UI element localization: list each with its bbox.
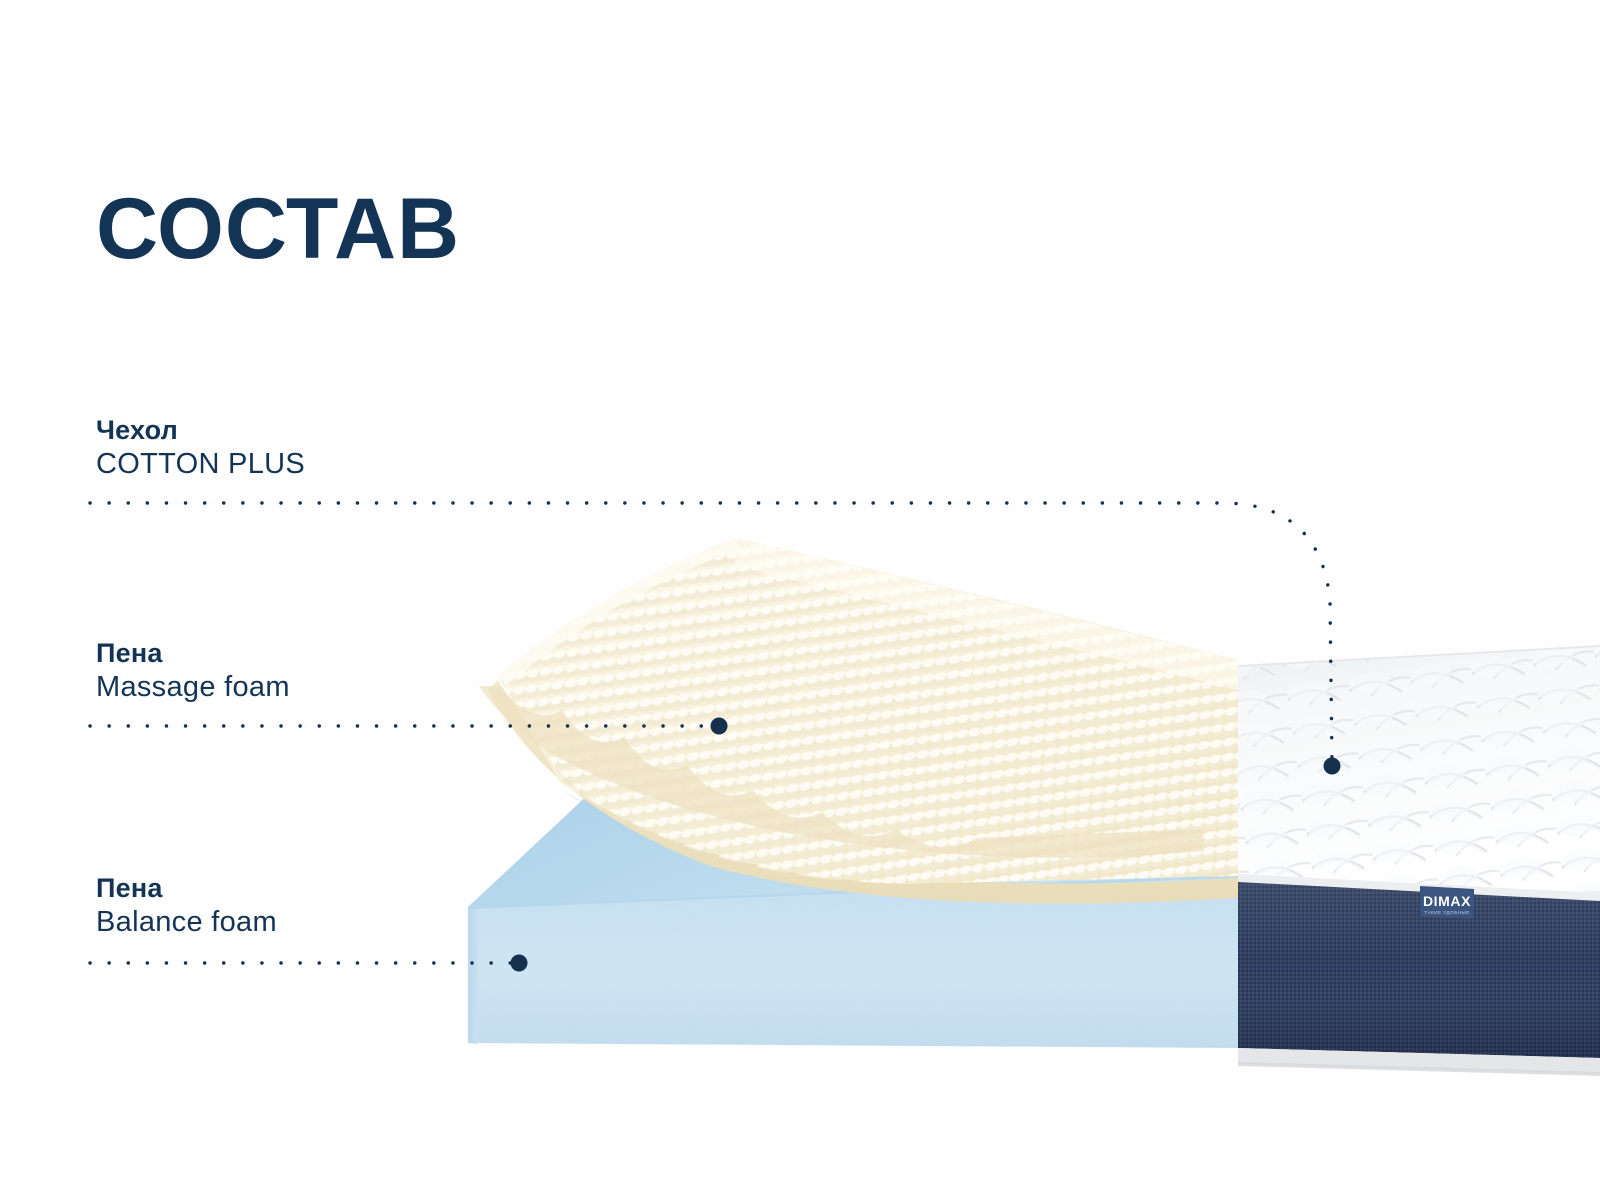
composition-infographic: СОСТАВ Чехол COTTON PLUS Пена Massage fo…	[0, 0, 1600, 1199]
brand-badge-tagline: ТАКИЕ УДОБНЫЕ	[1424, 910, 1469, 915]
leader-dot-balance	[511, 955, 528, 972]
leader-dot-cover	[1324, 758, 1341, 775]
side-fabric	[1238, 874, 1600, 1058]
quilted-cover	[1230, 640, 1600, 905]
leader-dot-massage	[711, 718, 728, 735]
brand-badge-name: DIMAX	[1423, 893, 1471, 909]
mattress-illustration: DIMAX ТАКИЕ УДОБНЫЕ	[0, 0, 1600, 1199]
brand-badge-dimax: DIMAX ТАКИЕ УДОБНЫЕ	[1420, 886, 1474, 919]
